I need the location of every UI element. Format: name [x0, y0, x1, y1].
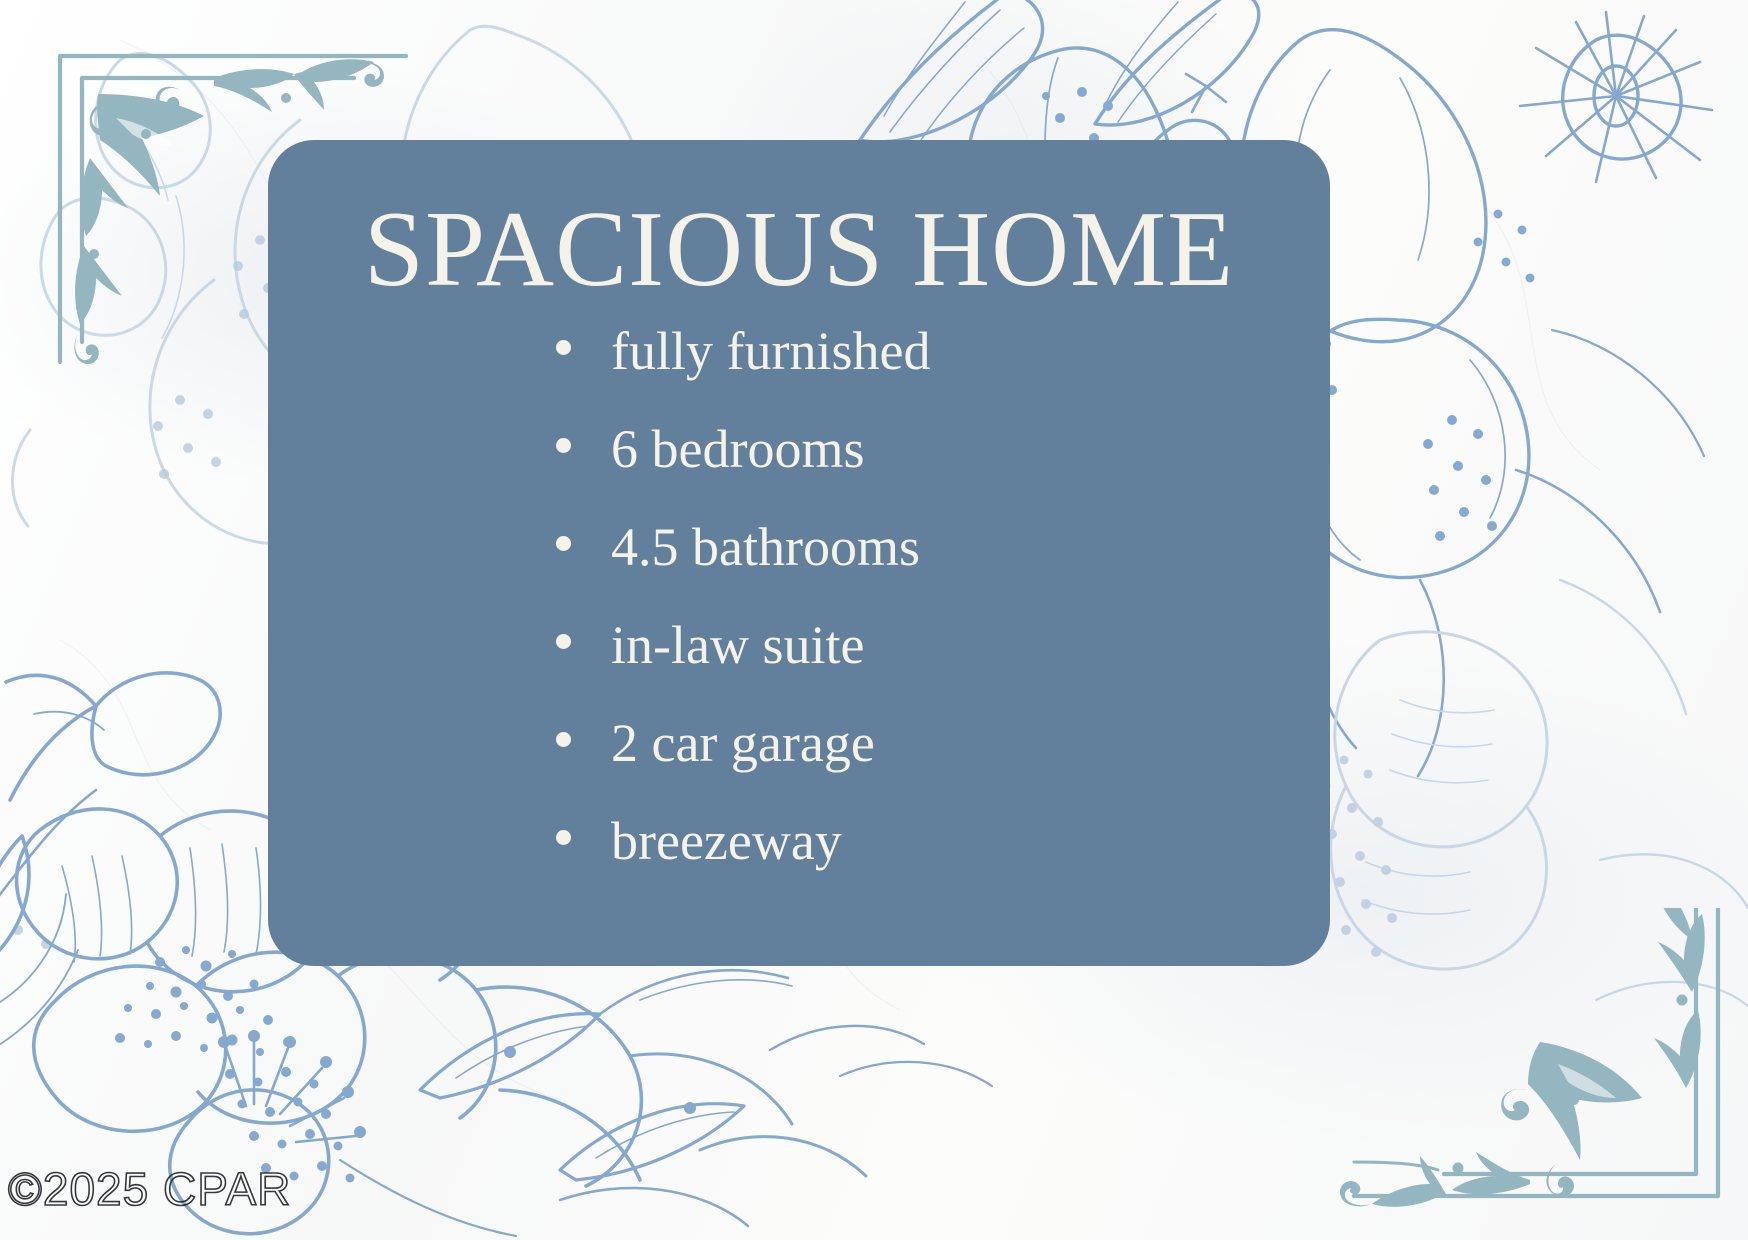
- features-list: fully furnished 6 bedrooms 4.5 bathrooms…: [308, 324, 1290, 868]
- flyer-canvas: SPACIOUS HOME fully furnished 6 bedrooms…: [0, 0, 1748, 1240]
- feature-label: 4.5 bathrooms: [611, 520, 920, 574]
- list-item: 6 bedrooms: [556, 422, 1290, 476]
- bottom-left-dot-texture: [115, 946, 355, 1183]
- bullet-icon: [556, 340, 571, 355]
- bullet-icon: [556, 732, 571, 747]
- feature-label: 2 car garage: [611, 716, 875, 770]
- feature-label: 6 bedrooms: [611, 422, 864, 476]
- bullet-icon: [556, 438, 571, 453]
- list-item: breezeway: [556, 814, 1290, 868]
- list-item: fully furnished: [556, 324, 1290, 378]
- feature-card: SPACIOUS HOME fully furnished 6 bedrooms…: [268, 140, 1330, 966]
- list-item: in-law suite: [556, 618, 1290, 672]
- list-item: 4.5 bathrooms: [556, 520, 1290, 574]
- feature-label: fully furnished: [611, 324, 930, 378]
- bullet-icon: [556, 634, 571, 649]
- bottom-right-corner-ornament: [1334, 908, 1724, 1218]
- bullet-icon: [556, 830, 571, 845]
- feature-label: in-law suite: [611, 618, 864, 672]
- list-item: 2 car garage: [556, 716, 1290, 770]
- page-title: SPACIOUS HOME: [308, 194, 1290, 306]
- feature-label: breezeway: [611, 814, 842, 868]
- copyright-watermark: ©2025 CPAR: [8, 1162, 291, 1216]
- bullet-icon: [556, 536, 571, 551]
